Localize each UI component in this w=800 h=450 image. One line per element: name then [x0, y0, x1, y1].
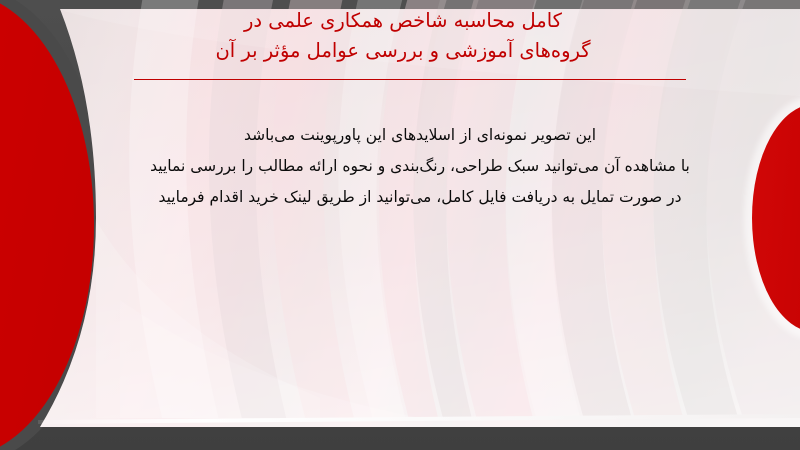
title-underline-rule — [134, 79, 686, 80]
body-line-2: با مشاهده آن می‌توانید سبک طراحی، رنگ‌بن… — [120, 151, 720, 182]
background-stripes-decoration — [0, 0, 800, 450]
body-line-1: این تصویر نمونه‌ای از اسلایدهای این پاور… — [120, 120, 720, 151]
slide-title: کامل محاسبه شاخص همکاری علمی در گروه‌های… — [120, 6, 686, 66]
slide-body-text: این تصویر نمونه‌ای از اسلایدهای این پاور… — [120, 120, 720, 213]
slide-canvas: کامل محاسبه شاخص همکاری علمی در گروه‌های… — [0, 0, 800, 450]
body-line-3: در صورت تمایل به دریافت فایل کامل، می‌تو… — [120, 182, 720, 213]
title-line-1: کامل محاسبه شاخص همکاری علمی در — [120, 6, 686, 36]
title-line-2: گروه‌های آموزشی و بررسی عوامل مؤثر بر آن — [120, 36, 686, 66]
